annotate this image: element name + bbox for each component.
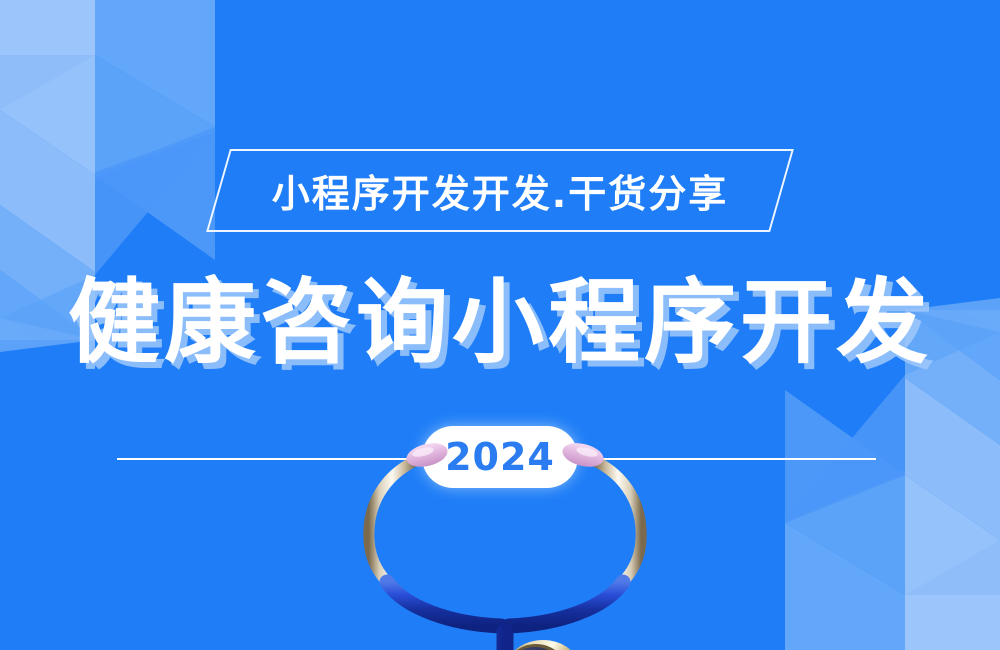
divider-rule-right: [578, 458, 876, 460]
year-label: 2024: [445, 435, 555, 479]
right-blue-yoke: [509, 582, 623, 626]
divider-rule-left: [117, 458, 417, 460]
page-title: 健康咨询小程序开发: [0, 258, 1000, 370]
subtitle-text: 小程序开发开发.干货分享: [0, 148, 1000, 232]
year-badge: 2024: [422, 426, 578, 488]
blue-tubing: [417, 632, 505, 650]
chest-piece: [507, 640, 579, 650]
left-blue-yoke: [387, 582, 501, 626]
right-chrome-tube: [593, 460, 641, 584]
left-chrome-tube: [369, 460, 417, 584]
health-consult-banner: 小程序开发开发.干货分享 健康咨询小程序开发 2024: [0, 0, 1000, 650]
